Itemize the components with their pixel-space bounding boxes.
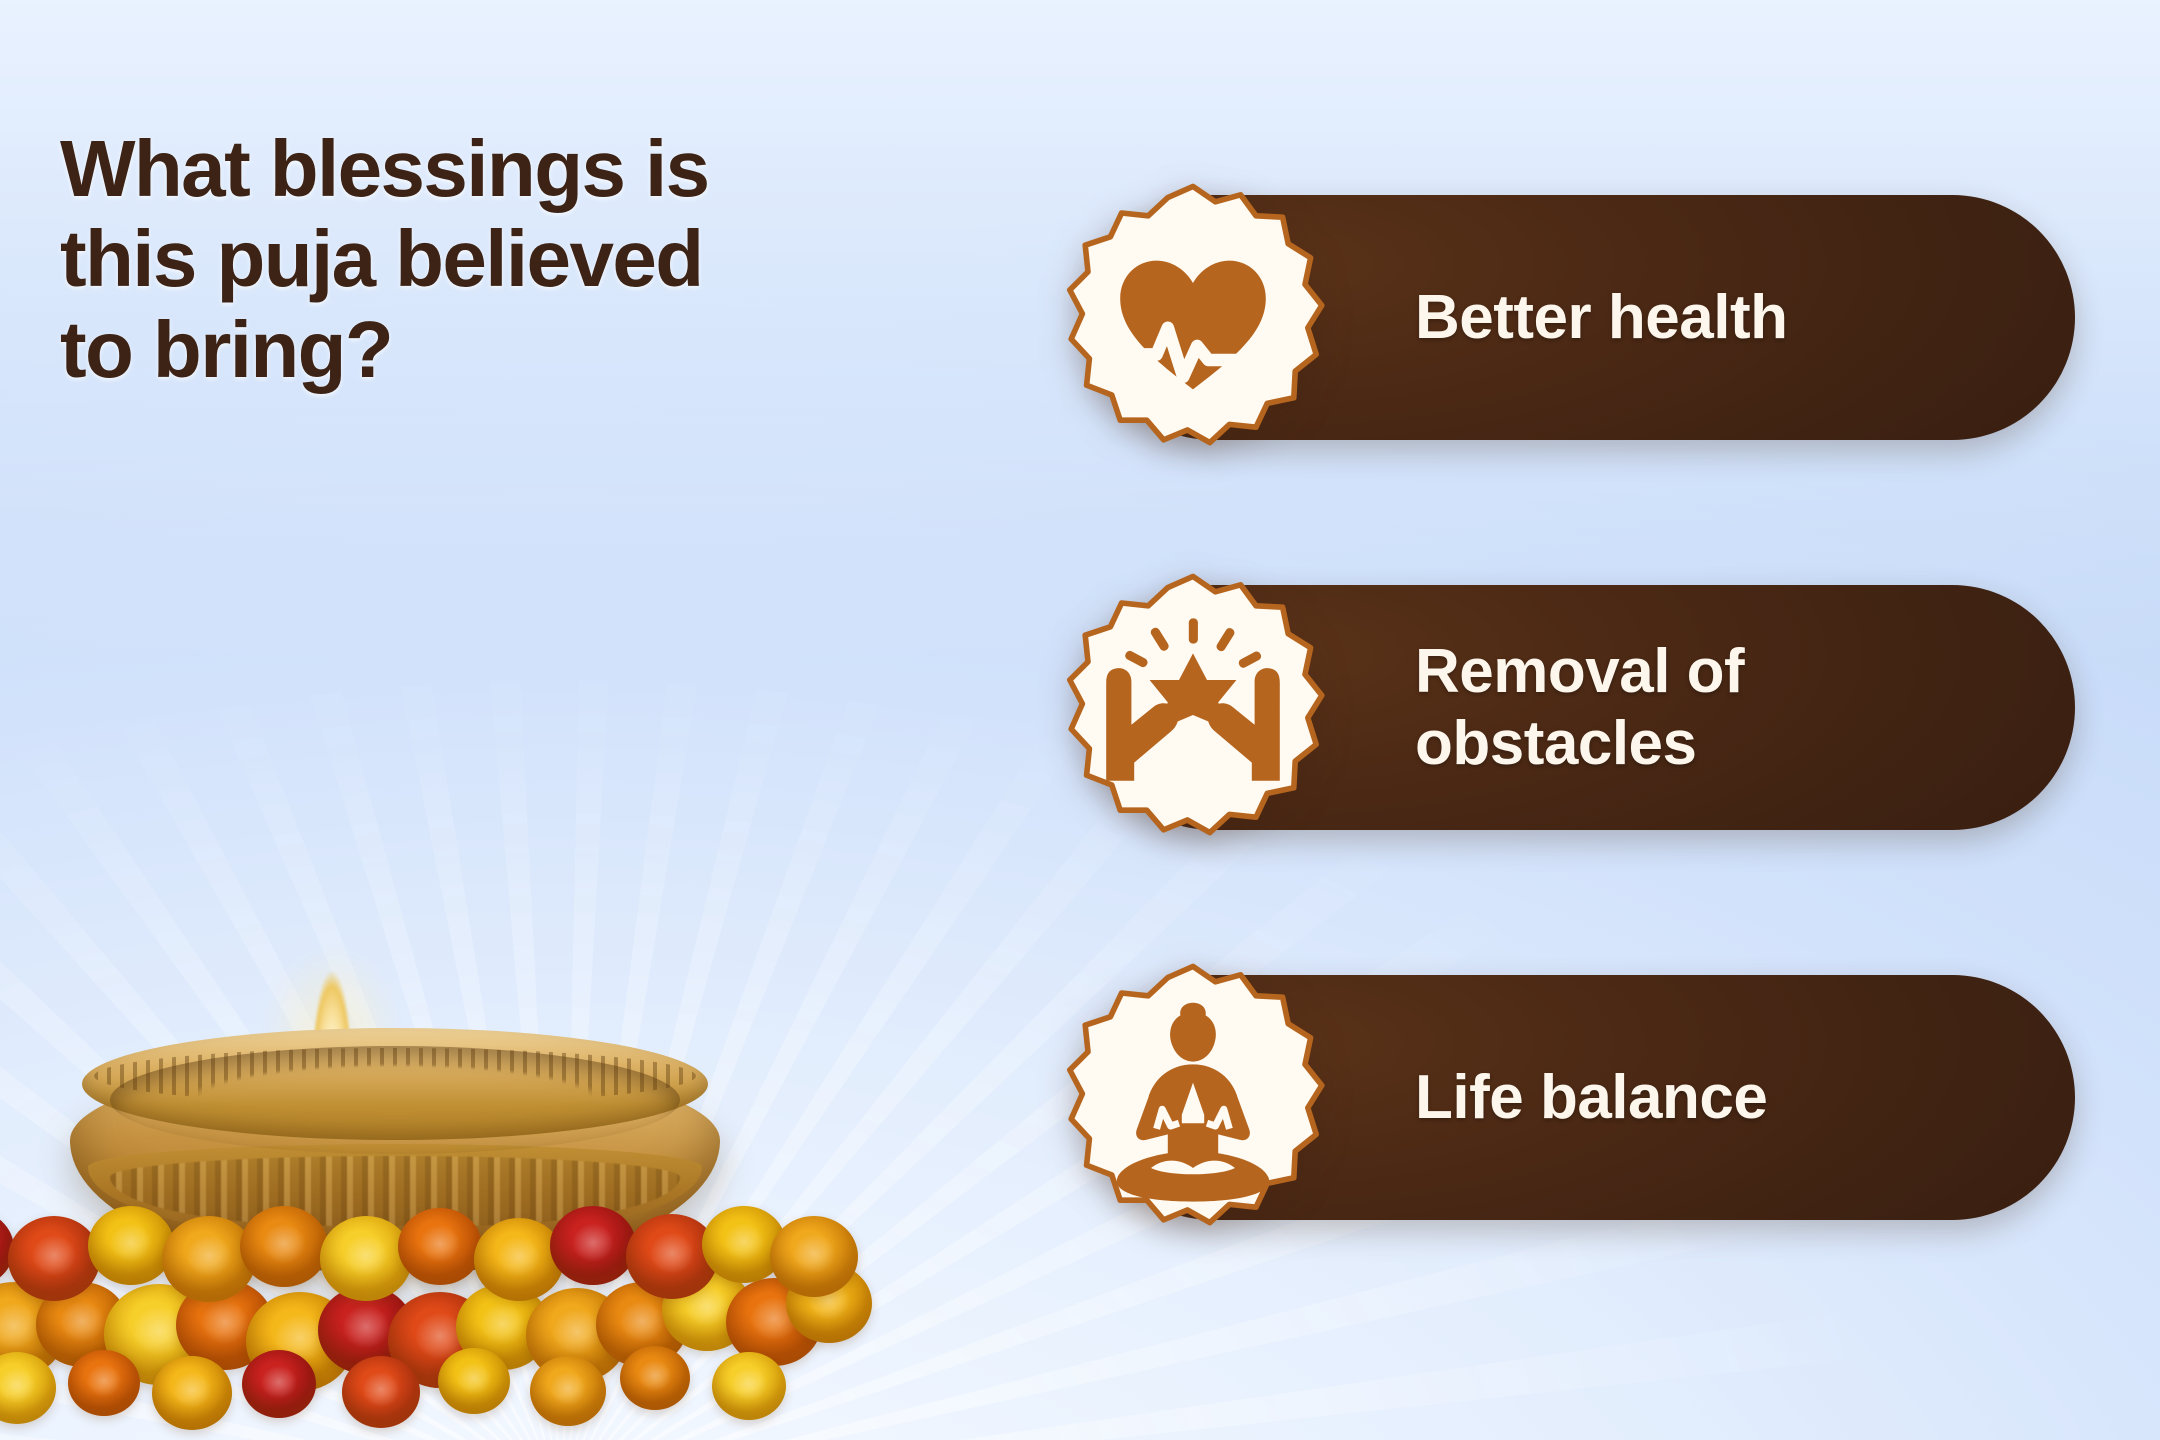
marigold-bloom [88,1206,174,1285]
hands-star-icon [1053,568,1333,848]
marigold-bloom [320,1216,412,1301]
diya-lamp-image [0,800,880,1440]
option-label: Better health [1415,282,1787,354]
page-title-line-1: What blessings is [60,124,760,214]
meditation-icon [1053,958,1333,1238]
page-title: What blessings is this puja believed to … [60,124,760,395]
marigold-bloom [8,1216,100,1301]
poster-canvas: What blessings is this puja believed to … [0,0,2160,1440]
marigold-bloom [242,1350,316,1418]
marigold-bloom [550,1206,636,1285]
marigold-bloom [240,1206,328,1287]
marigold-bloom [152,1356,232,1430]
option-label: Life balance [1415,1062,1767,1134]
heart-pulse-icon [1053,178,1333,458]
option-label: Removal of obstacles [1415,636,2015,780]
marigold-bloom [530,1356,606,1426]
marigold-bloom [620,1346,690,1410]
lamp-rim-beading [94,1048,696,1104]
marigold-bloom [438,1348,510,1414]
marigold-bloom [474,1218,564,1301]
marigold-bloom [770,1216,858,1297]
page-title-line-3: to bring? [60,305,760,395]
marigold-flowers [0,1220,900,1440]
page-title-line-2: this puja believed [60,214,760,304]
marigold-bloom [342,1356,420,1428]
marigold-bloom [398,1208,482,1285]
marigold-bloom [712,1352,786,1420]
marigold-bloom [68,1350,140,1416]
